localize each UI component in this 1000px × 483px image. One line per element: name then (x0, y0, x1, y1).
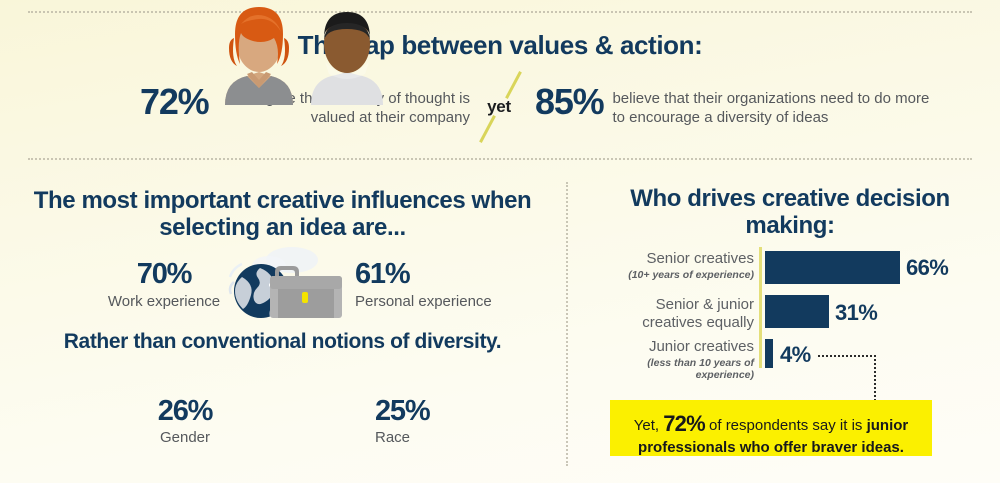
demographic-race: 25% Race (375, 397, 485, 448)
stat-values-action: 85% believe that their organizations nee… (535, 82, 935, 128)
divider-middle (28, 158, 972, 160)
chart-category-note-2: (less than 10 years of experience) (596, 357, 754, 381)
top-section-title: The gap between values & action: (0, 31, 1000, 60)
influence-personal-experience: 61% Personal experience (355, 260, 515, 312)
influence-work-experience: 70% Work experience (98, 260, 230, 312)
influence-label-work: Work experience (98, 293, 230, 312)
influence-value-70: 70% (98, 260, 230, 289)
chart-category-label-1: Senior & junior creatives equally (596, 296, 754, 331)
stat-value-72: 72% (140, 82, 208, 120)
globe-briefcase-illustration (222, 244, 344, 324)
decision-making-bar-chart: Senior creatives (10+ years of experienc… (596, 247, 996, 372)
demographic-gender: 26% Gender (130, 397, 240, 448)
demographics-row: 26% Gender 25% Race (10, 355, 555, 465)
callout-prefix: Yet, (634, 417, 663, 434)
yet-separator: yet (466, 72, 532, 142)
two-people-illustration (215, 0, 385, 105)
chart-bar-row: Senior creatives (10+ years of experienc… (596, 251, 996, 284)
yet-label: yet (466, 97, 532, 117)
chart-bar-value-0: 66% (906, 255, 948, 281)
chart-bar-row: Senior & junior creatives equally 31% (596, 295, 996, 328)
chart-bar-value-2: 4% (780, 342, 811, 368)
chart-category-label-2: Junior creatives (less than 10 years of … (596, 339, 754, 381)
infographic-canvas: The gap between values & action: 72% agr… (0, 0, 1000, 483)
chart-category-name-0: Senior creatives (596, 251, 754, 268)
chart-category-name-1: Senior & junior creatives equally (596, 296, 754, 331)
callout-text: Yet, 72% of respondents say it is junior… (626, 410, 916, 457)
demographic-value-26: 26% (130, 397, 240, 426)
stat-text-85: believe that their organizations need to… (612, 82, 935, 128)
demographic-value-25: 25% (375, 397, 485, 426)
divider-top (28, 11, 972, 13)
chart-category-label-0: Senior creatives (10+ years of experienc… (596, 251, 754, 281)
person-left-icon (225, 7, 293, 105)
demographic-label-race: Race (375, 429, 485, 448)
callout-connector-horizontal (818, 355, 876, 357)
rather-than-title: Rather than conventional notions of dive… (10, 330, 555, 354)
slash-upper-icon (505, 71, 522, 99)
chart-bar-row: Junior creatives (less than 10 years of … (596, 339, 996, 368)
influence-value-61: 61% (355, 260, 515, 289)
callout-number: 72% (663, 411, 705, 436)
right-section-title: Who drives creative decision making: (600, 186, 980, 240)
callout-middle: of respondents say it is (705, 417, 867, 434)
chart-category-note-0: (10+ years of experience) (596, 269, 754, 281)
influence-label-personal: Personal experience (355, 293, 515, 312)
left-section-title: The most important creative influences w… (10, 188, 555, 242)
chart-bar-fill-2 (765, 339, 773, 368)
yellow-callout-box: Yet, 72% of respondents say it is junior… (610, 400, 932, 456)
person-right-icon (311, 12, 383, 105)
slash-lower-icon (479, 115, 496, 143)
chart-bar-value-1: 31% (835, 300, 877, 326)
stat-value-85: 85% (535, 82, 603, 120)
demographic-label-gender: Gender (130, 429, 240, 448)
chart-bar-fill-1 (765, 295, 829, 328)
chart-category-name-2: Junior creatives (596, 339, 754, 356)
callout-connector-vertical (874, 355, 876, 401)
divider-vertical (566, 182, 568, 466)
chart-bar-fill-0 (765, 251, 900, 284)
